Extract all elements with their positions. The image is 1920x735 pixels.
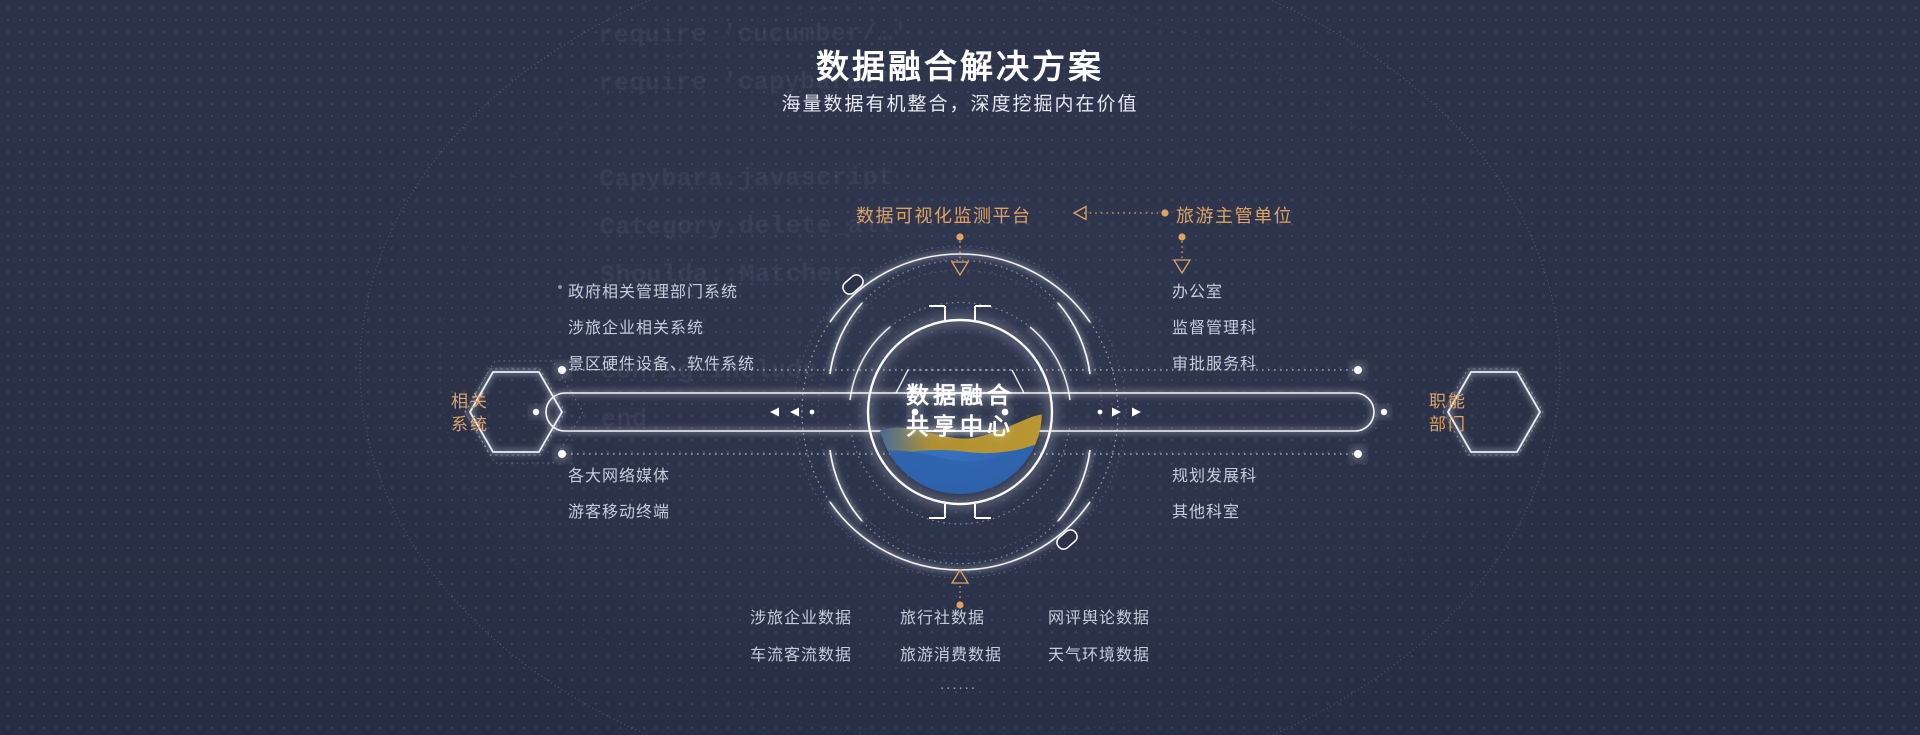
infographic-canvas: require 'cucumber/…' require 'capybara…'… <box>0 0 1920 735</box>
left-item-4[interactable]: 游客移动终端 <box>568 498 670 522</box>
bottom-item-0[interactable]: 涉旅企业数据 <box>750 604 852 628</box>
left-item-1[interactable]: 涉旅企业相关系统 <box>568 314 704 338</box>
right-hex-label: 职能 部门 <box>1403 390 1493 436</box>
authority-down-arrow <box>1174 233 1190 273</box>
right-item-2[interactable]: 审批服务科 <box>1172 350 1257 374</box>
right-rail-dot-top <box>1354 366 1362 374</box>
left-item-3[interactable]: 各大网络媒体 <box>568 462 670 486</box>
right-item-3[interactable]: 规划发展科 <box>1172 462 1257 486</box>
bottom-item-2[interactable]: 网评舆论数据 <box>1048 604 1150 628</box>
right-hex-line1: 职能 <box>1403 390 1493 413</box>
left-item-0[interactable]: 政府相关管理部门系统 <box>568 278 738 302</box>
label-visualization-platform[interactable]: 数据可视化监测平台 <box>856 202 1032 228</box>
bottom-up-arrow <box>952 570 968 609</box>
ring-marker-top-left <box>840 272 865 296</box>
bottom-item-1[interactable]: 旅行社数据 <box>900 604 985 628</box>
label-tourism-authority[interactable]: 旅游主管单位 <box>1176 202 1293 228</box>
right-rail-dot-bottom <box>1354 450 1362 458</box>
right-item-1[interactable]: 监督管理科 <box>1172 314 1257 338</box>
bottom-item-4[interactable]: 旅游消费数据 <box>900 641 1002 665</box>
right-hex-line2: 部门 <box>1403 413 1493 436</box>
left-item-2[interactable]: 景区硬件设备、软件系统 <box>568 350 755 374</box>
right-item-4[interactable]: 其他科室 <box>1172 498 1240 522</box>
top-link-connector <box>1074 207 1169 220</box>
left-list-markers <box>558 285 562 289</box>
page-subtitle: 海量数据有机整合，深度挖掘内在价值 <box>0 89 1920 116</box>
bottom-item-5[interactable]: 天气环境数据 <box>1048 641 1150 665</box>
center-sphere-label: 数据融合 共享中心 <box>860 380 1060 442</box>
left-hex-label: 相关 系统 <box>425 390 515 436</box>
left-rail-dot-top <box>558 366 566 374</box>
page-title: 数据融合解决方案 <box>0 40 1920 88</box>
center-line-1: 数据融合 <box>860 380 1060 411</box>
center-line-2: 共享中心 <box>860 411 1060 442</box>
left-hex-line1: 相关 <box>425 390 515 413</box>
left-hex-line2: 系统 <box>425 413 515 436</box>
bottom-item-3[interactable]: 车流客流数据 <box>750 641 852 665</box>
right-item-0[interactable]: 办公室 <box>1172 278 1223 302</box>
bottom-ellipsis: ...... <box>940 676 977 693</box>
left-rail-dot-bottom <box>558 450 566 458</box>
